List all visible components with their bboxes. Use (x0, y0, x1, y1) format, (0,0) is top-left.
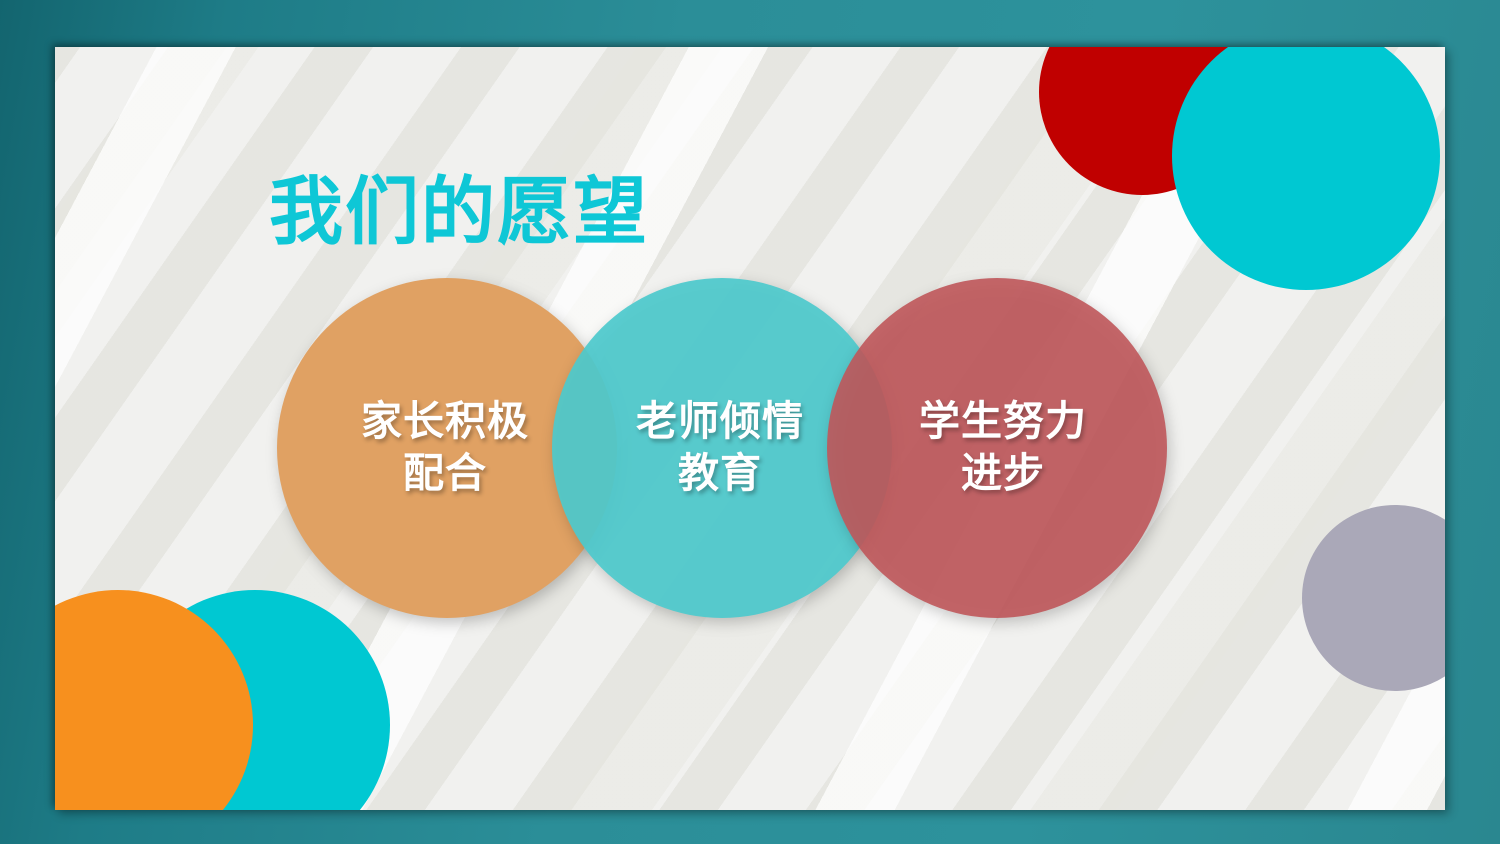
slide-root: 我们的愿望 家长积极 配合 老师倾情 教育 学生努力 进步 (0, 0, 1500, 844)
bottom-right-gray-circle-icon (1302, 505, 1445, 691)
page-title: 我们的愿望 (269, 175, 649, 249)
venn-label-parents: 家长积极 配合 (338, 395, 553, 500)
venn-label-students: 学生努力 进步 (896, 395, 1111, 500)
top-right-cyan-circle-icon (1172, 47, 1440, 290)
venn-circle-students[interactable]: 学生努力 进步 (827, 278, 1167, 618)
slide-canvas: 我们的愿望 家长积极 配合 老师倾情 教育 学生努力 进步 (55, 47, 1445, 810)
venn-label-teachers: 老师倾情 教育 (613, 395, 828, 500)
